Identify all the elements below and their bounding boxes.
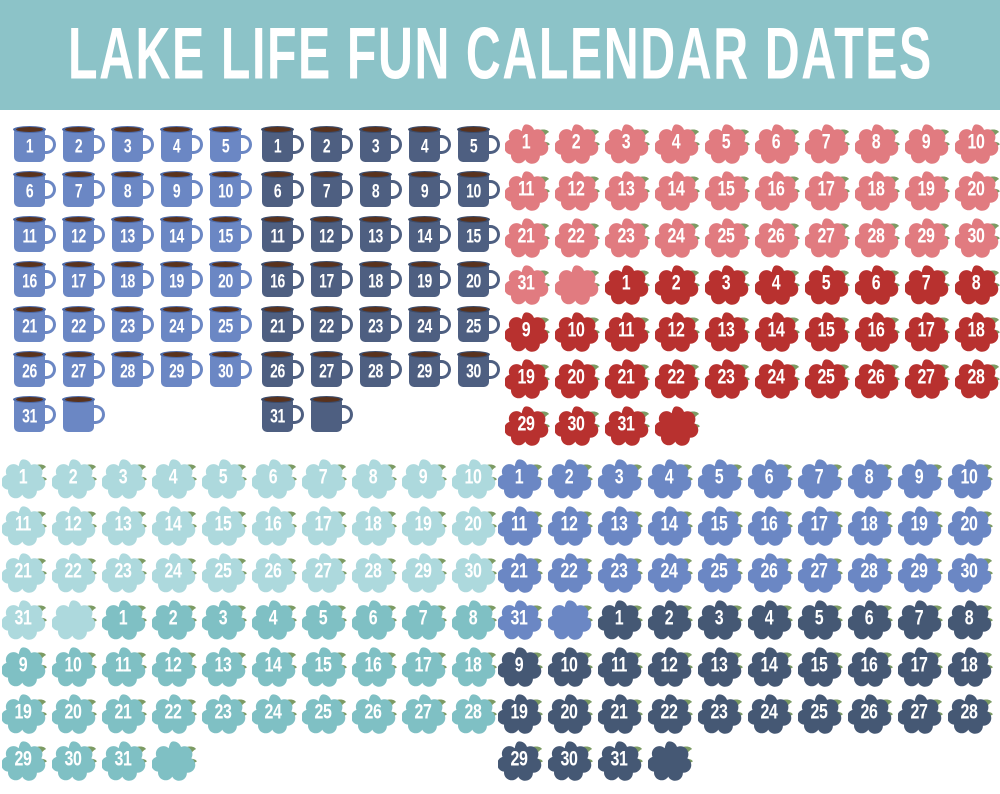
flower-sticker-8[interactable]: 8 (946, 596, 996, 643)
flower-sticker-6[interactable]: 6 (250, 455, 300, 502)
flower-date-number: 6 (355, 605, 390, 634)
mug-sticker-15[interactable]: 15 (454, 212, 503, 257)
flower-sticker-18[interactable]: 18 (953, 308, 1000, 355)
flower-sticker-19[interactable]: 19 (503, 355, 553, 402)
flower-sticker-16[interactable]: 16 (746, 502, 796, 549)
flower-sticker-20[interactable]: 20 (450, 502, 500, 549)
mug-sticker-19[interactable]: 19 (157, 257, 206, 302)
mug-sticker-18[interactable]: 18 (108, 257, 157, 302)
flower-sticker-30[interactable]: 30 (450, 549, 500, 596)
mug-sticker-12[interactable]: 12 (59, 212, 108, 257)
mug-sticker-14[interactable]: 14 (157, 212, 206, 257)
flower-sticker-19[interactable]: 19 (400, 502, 450, 549)
mug-date-number: 10 (461, 179, 486, 206)
mug-sticker-8[interactable]: 8 (108, 167, 157, 212)
flower-sticker-7[interactable]: 7 (300, 455, 350, 502)
flower-date-number: 3 (701, 605, 736, 634)
flower-sticker-22[interactable]: 22 (150, 690, 200, 737)
flower-sticker-3[interactable]: 3 (603, 120, 653, 167)
coffee-icon (163, 307, 190, 312)
flower-sticker-2[interactable]: 2 (553, 120, 603, 167)
mug-date-number: 23 (115, 314, 140, 341)
flower-sticker-6[interactable]: 6 (846, 596, 896, 643)
flower-sticker-26[interactable]: 26 (350, 690, 400, 737)
flower-sticker-28[interactable]: 28 (846, 549, 896, 596)
flower-sticker-15[interactable]: 15 (696, 502, 746, 549)
flower-sticker-24[interactable]: 24 (653, 214, 703, 261)
mug-sticker-3[interactable]: 3 (108, 122, 157, 167)
flower-sticker-8[interactable]: 8 (853, 120, 903, 167)
mug-date-number: 7 (66, 179, 91, 206)
flower-sticker-21[interactable]: 21 (100, 690, 150, 737)
flower-sticker-6[interactable]: 6 (753, 120, 803, 167)
flower-date-number: 25 (808, 364, 843, 393)
flower-sticker-3[interactable]: 3 (596, 455, 646, 502)
flower-sticker-27[interactable]: 27 (896, 690, 946, 737)
flower-date-number: 8 (858, 129, 893, 158)
flower-sticker-27[interactable]: 27 (803, 214, 853, 261)
mug-sticker-17[interactable]: 17 (307, 257, 356, 302)
flower-sticker-22[interactable]: 22 (646, 690, 696, 737)
flower-sticker-27[interactable]: 27 (796, 549, 846, 596)
flower-sticker-18[interactable]: 18 (946, 643, 996, 690)
flower-date-number: 10 (958, 129, 993, 158)
flower-sticker-17[interactable]: 17 (803, 167, 853, 214)
mug-sticker-11[interactable]: 11 (10, 212, 59, 257)
flower-sticker-7[interactable]: 7 (400, 596, 450, 643)
flower-sticker-25[interactable]: 25 (696, 549, 746, 596)
mug-sticker-31[interactable]: 31 (258, 392, 307, 437)
mug-sticker-7[interactable]: 7 (59, 167, 108, 212)
flower-sticker-7[interactable]: 7 (896, 596, 946, 643)
flower-sticker-13[interactable]: 13 (603, 167, 653, 214)
flower-sticker-18[interactable]: 18 (450, 643, 500, 690)
flower-sticker-5[interactable]: 5 (696, 455, 746, 502)
flower-sticker-8[interactable]: 8 (450, 596, 500, 643)
mug-sticker-28[interactable]: 28 (356, 347, 405, 392)
flower-date-number: 18 (455, 652, 490, 681)
mug-sticker-30[interactable]: 30 (454, 347, 503, 392)
mug-sticker-10[interactable]: 10 (206, 167, 255, 212)
flower-sticker-24[interactable]: 24 (746, 690, 796, 737)
flower-sticker-6[interactable]: 6 (746, 455, 796, 502)
flower-sticker-13[interactable]: 13 (596, 502, 646, 549)
flower-date-number: 12 (551, 511, 586, 540)
mug-sticker-blank[interactable] (59, 392, 108, 437)
flower-sticker-4[interactable]: 4 (646, 455, 696, 502)
flower-sticker-18[interactable]: 18 (853, 167, 903, 214)
flower-sticker-17[interactable]: 17 (300, 502, 350, 549)
mug-date-number: 22 (314, 314, 339, 341)
flower-sticker-21[interactable]: 21 (503, 214, 553, 261)
flower-sticker-4[interactable]: 4 (653, 120, 703, 167)
mug-date-number: 17 (314, 269, 339, 296)
flower-sticker-13[interactable]: 13 (696, 643, 746, 690)
flower-sticker-22[interactable]: 22 (653, 355, 703, 402)
flower-sticker-7[interactable]: 7 (803, 120, 853, 167)
flower-sticker-13[interactable]: 13 (200, 643, 250, 690)
mug-sticker-14[interactable]: 14 (405, 212, 454, 257)
flower-sticker-21[interactable]: 21 (596, 690, 646, 737)
flower-sticker-28[interactable]: 28 (853, 214, 903, 261)
mug-sticker-13[interactable]: 13 (108, 212, 157, 257)
coffee-icon (460, 172, 487, 177)
flower-date-number: 1 (5, 464, 40, 493)
mug-sticker-29[interactable]: 29 (157, 347, 206, 392)
flower-sticker-2[interactable]: 2 (653, 261, 703, 308)
flower-sticker-blank[interactable] (646, 737, 696, 784)
flower-sticker-10[interactable]: 10 (953, 120, 1000, 167)
flower-sticker-28[interactable]: 28 (350, 549, 400, 596)
flower-sticker-23[interactable]: 23 (703, 355, 753, 402)
mug-sticker-9[interactable]: 9 (157, 167, 206, 212)
flower-sticker-18[interactable]: 18 (350, 502, 400, 549)
flower-sticker-21[interactable]: 21 (0, 549, 50, 596)
mug-sticker-13[interactable]: 13 (356, 212, 405, 257)
flower-sticker-14[interactable]: 14 (250, 643, 300, 690)
flower-sticker-24[interactable]: 24 (753, 355, 803, 402)
flower-sticker-18[interactable]: 18 (846, 502, 896, 549)
mug-sticker-26[interactable]: 26 (10, 347, 59, 392)
flower-sticker-31[interactable]: 31 (496, 596, 546, 643)
flower-sticker-10[interactable]: 10 (546, 643, 596, 690)
flower-sticker-5[interactable]: 5 (300, 596, 350, 643)
mug-sticker-28[interactable]: 28 (108, 347, 157, 392)
flower-sticker-11[interactable]: 11 (0, 502, 50, 549)
flower-sticker-14[interactable]: 14 (150, 502, 200, 549)
flower-sticker-22[interactable]: 22 (50, 549, 100, 596)
flower-sticker-11[interactable]: 11 (603, 308, 653, 355)
mug-sticker-25[interactable]: 25 (206, 302, 255, 347)
flower-sticker-26[interactable]: 26 (846, 690, 896, 737)
mug-date-number: 12 (314, 224, 339, 251)
flower-sticker-10[interactable]: 10 (553, 308, 603, 355)
flower-sticker-7[interactable]: 7 (796, 455, 846, 502)
coffee-icon (411, 352, 438, 357)
flower-sticker-11[interactable]: 11 (596, 643, 646, 690)
flower-sticker-23[interactable]: 23 (596, 549, 646, 596)
mug-sticker-2[interactable]: 2 (307, 122, 356, 167)
flower-sticker-16[interactable]: 16 (846, 643, 896, 690)
flower-sticker-8[interactable]: 8 (846, 455, 896, 502)
flower-sticker-9[interactable]: 9 (503, 308, 553, 355)
flower-date-number: 17 (405, 652, 440, 681)
mug-sticker-5[interactable]: 5 (206, 122, 255, 167)
flower-sticker-12[interactable]: 12 (646, 643, 696, 690)
mug-sticker-7[interactable]: 7 (307, 167, 356, 212)
flower-sticker-30[interactable]: 30 (953, 214, 1000, 261)
coffee-icon (313, 262, 340, 267)
flower-sticker-16[interactable]: 16 (753, 167, 803, 214)
mug-sticker-11[interactable]: 11 (258, 212, 307, 257)
flower-date-number: 24 (651, 558, 686, 587)
flower-date-number: 21 (105, 699, 140, 728)
flower-sticker-29[interactable]: 29 (896, 549, 946, 596)
mug-sticker-30[interactable]: 30 (206, 347, 255, 392)
flower-sticker-12[interactable]: 12 (653, 308, 703, 355)
mug-sticker-17[interactable]: 17 (59, 257, 108, 302)
flower-sticker-1[interactable]: 1 (100, 596, 150, 643)
mug-sticker-26[interactable]: 26 (258, 347, 307, 392)
flower-sticker-20[interactable]: 20 (946, 502, 996, 549)
flower-sticker-23[interactable]: 23 (603, 214, 653, 261)
flower-sticker-28[interactable]: 28 (946, 690, 996, 737)
flower-sticker-26[interactable]: 26 (250, 549, 300, 596)
panel-light-blue-mugs: 1234567891011121314151617181920212223242… (10, 122, 255, 437)
flower-sticker-11[interactable]: 11 (100, 643, 150, 690)
flower-sticker-15[interactable]: 15 (703, 167, 753, 214)
flower-sticker-30[interactable]: 30 (50, 737, 100, 784)
flower-sticker-20[interactable]: 20 (546, 690, 596, 737)
flower-date-number: 27 (808, 223, 843, 252)
flower-sticker-20[interactable]: 20 (50, 690, 100, 737)
mug-sticker-1[interactable]: 1 (10, 122, 59, 167)
flower-sticker-16[interactable]: 16 (250, 502, 300, 549)
mug-sticker-6[interactable]: 6 (10, 167, 59, 212)
flower-sticker-11[interactable]: 11 (496, 502, 546, 549)
flower-sticker-31[interactable]: 31 (603, 402, 653, 449)
mug-sticker-8[interactable]: 8 (356, 167, 405, 212)
flower-sticker-4[interactable]: 4 (753, 261, 803, 308)
flower-date-number: 26 (758, 223, 793, 252)
flower-sticker-14[interactable]: 14 (653, 167, 703, 214)
flower-sticker-19[interactable]: 19 (903, 167, 953, 214)
flower-sticker-10[interactable]: 10 (946, 455, 996, 502)
mug-sticker-19[interactable]: 19 (405, 257, 454, 302)
flower-sticker-4[interactable]: 4 (746, 596, 796, 643)
flower-sticker-5[interactable]: 5 (803, 261, 853, 308)
flower-sticker-30[interactable]: 30 (546, 737, 596, 784)
flower-date-number: 13 (205, 652, 240, 681)
flower-sticker-9[interactable]: 9 (896, 455, 946, 502)
flower-sticker-9[interactable]: 9 (903, 120, 953, 167)
flower-sticker-25[interactable]: 25 (703, 214, 753, 261)
flower-date-number: 17 (808, 176, 843, 205)
mug-sticker-20[interactable]: 20 (454, 257, 503, 302)
flower-sticker-5[interactable]: 5 (703, 120, 753, 167)
mug-sticker-1[interactable]: 1 (258, 122, 307, 167)
flower-sticker-27[interactable]: 27 (903, 355, 953, 402)
flower-sticker-4[interactable]: 4 (150, 455, 200, 502)
mug-sticker-blank[interactable] (307, 392, 356, 437)
flower-sticker-28[interactable]: 28 (450, 690, 500, 737)
flower-date-number: 21 (5, 558, 40, 587)
flower-sticker-14[interactable]: 14 (746, 643, 796, 690)
flower-sticker-10[interactable]: 10 (450, 455, 500, 502)
flower-sticker-blank[interactable] (546, 596, 596, 643)
flower-sticker-22[interactable]: 22 (553, 214, 603, 261)
flower-sticker-6[interactable]: 6 (853, 261, 903, 308)
mug-date-number: 28 (115, 359, 140, 386)
flower-sticker-20[interactable]: 20 (953, 167, 1000, 214)
flower-date-number: 4 (658, 129, 693, 158)
flower-sticker-11[interactable]: 11 (503, 167, 553, 214)
flower-sticker-19[interactable]: 19 (896, 502, 946, 549)
flower-sticker-28[interactable]: 28 (953, 355, 1000, 402)
flower-sticker-23[interactable]: 23 (100, 549, 150, 596)
flower-sticker-13[interactable]: 13 (100, 502, 150, 549)
flower-sticker-24[interactable]: 24 (646, 549, 696, 596)
flower-sticker-5[interactable]: 5 (796, 596, 846, 643)
flower-sticker-16[interactable]: 16 (853, 308, 903, 355)
mug-sticker-18[interactable]: 18 (356, 257, 405, 302)
flower-sticker-1[interactable]: 1 (496, 455, 546, 502)
mug-sticker-23[interactable]: 23 (356, 302, 405, 347)
flower-sticker-15[interactable]: 15 (300, 643, 350, 690)
flower-sticker-14[interactable]: 14 (753, 308, 803, 355)
flower-sticker-1[interactable]: 1 (503, 120, 553, 167)
flower-sticker-7[interactable]: 7 (903, 261, 953, 308)
mug-sticker-24[interactable]: 24 (157, 302, 206, 347)
flower-sticker-23[interactable]: 23 (200, 690, 250, 737)
flower-sticker-31[interactable]: 31 (596, 737, 646, 784)
flower-sticker-26[interactable]: 26 (746, 549, 796, 596)
mug-sticker-16[interactable]: 16 (258, 257, 307, 302)
flower-date-number: 3 (105, 464, 140, 493)
flower-sticker-9[interactable]: 9 (496, 643, 546, 690)
flower-sticker-8[interactable]: 8 (953, 261, 1000, 308)
flower-sticker-21[interactable]: 21 (603, 355, 653, 402)
flower-sticker-25[interactable]: 25 (796, 690, 846, 737)
flower-sticker-3[interactable]: 3 (100, 455, 150, 502)
mug-grid-dark: 1234567891011121314151617181920212223242… (258, 122, 503, 437)
coffee-icon (114, 352, 141, 357)
flower-sticker-4[interactable]: 4 (250, 596, 300, 643)
flower-sticker-1[interactable]: 1 (0, 455, 50, 502)
flower-sticker-29[interactable]: 29 (503, 402, 553, 449)
flower-sticker-17[interactable]: 17 (400, 643, 450, 690)
flower-sticker-15[interactable]: 15 (796, 643, 846, 690)
flower-sticker-blank[interactable] (50, 596, 100, 643)
flower-date-number: 12 (155, 652, 190, 681)
flower-sticker-21[interactable]: 21 (496, 549, 546, 596)
flower-sticker-26[interactable]: 26 (853, 355, 903, 402)
flower-sticker-16[interactable]: 16 (350, 643, 400, 690)
flower-sticker-30[interactable]: 30 (946, 549, 996, 596)
mug-sticker-20[interactable]: 20 (206, 257, 255, 302)
flower-sticker-10[interactable]: 10 (50, 643, 100, 690)
flower-sticker-24[interactable]: 24 (150, 549, 200, 596)
flower-sticker-12[interactable]: 12 (553, 167, 603, 214)
flower-sticker-22[interactable]: 22 (546, 549, 596, 596)
mug-sticker-12[interactable]: 12 (307, 212, 356, 257)
flower-sticker-29[interactable]: 29 (400, 549, 450, 596)
mug-sticker-3[interactable]: 3 (356, 122, 405, 167)
mug-date-number: 12 (66, 224, 91, 251)
flower-date-number: 7 (305, 464, 340, 493)
flower-sticker-1[interactable]: 1 (596, 596, 646, 643)
mug-sticker-22[interactable]: 22 (307, 302, 356, 347)
flower-sticker-25[interactable]: 25 (300, 690, 350, 737)
flower-sticker-8[interactable]: 8 (350, 455, 400, 502)
flower-sticker-3[interactable]: 3 (696, 596, 746, 643)
flower-sticker-2[interactable]: 2 (646, 596, 696, 643)
mug-sticker-5[interactable]: 5 (454, 122, 503, 167)
flower-sticker-2[interactable]: 2 (50, 455, 100, 502)
flower-sticker-31[interactable]: 31 (503, 261, 553, 308)
flower-sticker-30[interactable]: 30 (553, 402, 603, 449)
flower-sticker-14[interactable]: 14 (646, 502, 696, 549)
flower-sticker-blank[interactable] (150, 737, 200, 784)
flower-sticker-blank[interactable] (653, 402, 703, 449)
mug-sticker-25[interactable]: 25 (454, 302, 503, 347)
flower-sticker-12[interactable]: 12 (546, 502, 596, 549)
flower-sticker-19[interactable]: 19 (496, 690, 546, 737)
flower-sticker-15[interactable]: 15 (803, 308, 853, 355)
mug-sticker-4[interactable]: 4 (405, 122, 454, 167)
flower-sticker-2[interactable]: 2 (150, 596, 200, 643)
mug-sticker-4[interactable]: 4 (157, 122, 206, 167)
flower-date-number: 27 (405, 699, 440, 728)
flower-sticker-9[interactable]: 9 (0, 643, 50, 690)
flower-sticker-15[interactable]: 15 (200, 502, 250, 549)
flower-date-number: 15 (205, 511, 240, 540)
flower-sticker-27[interactable]: 27 (300, 549, 350, 596)
flower-sticker-31[interactable]: 31 (100, 737, 150, 784)
flower-sticker-1[interactable]: 1 (603, 261, 653, 308)
flower-sticker-12[interactable]: 12 (150, 643, 200, 690)
flower-sticker-31[interactable]: 31 (0, 596, 50, 643)
flower-sticker-13[interactable]: 13 (703, 308, 753, 355)
mug-sticker-2[interactable]: 2 (59, 122, 108, 167)
flower-sticker-9[interactable]: 9 (400, 455, 450, 502)
flower-shape-icon (555, 263, 601, 306)
flower-sticker-25[interactable]: 25 (200, 549, 250, 596)
mug-sticker-6[interactable]: 6 (258, 167, 307, 212)
flower-sticker-29[interactable]: 29 (903, 214, 953, 261)
mug-sticker-31[interactable]: 31 (10, 392, 59, 437)
flower-sticker-3[interactable]: 3 (200, 596, 250, 643)
flower-date-number: 17 (801, 511, 836, 540)
flower-sticker-19[interactable]: 19 (0, 690, 50, 737)
mug-sticker-9[interactable]: 9 (405, 167, 454, 212)
mug-sticker-15[interactable]: 15 (206, 212, 255, 257)
mug-sticker-29[interactable]: 29 (405, 347, 454, 392)
coffee-icon (163, 352, 190, 357)
flower-sticker-5[interactable]: 5 (200, 455, 250, 502)
flower-sticker-12[interactable]: 12 (50, 502, 100, 549)
mug-date-number: 14 (412, 224, 437, 251)
flower-sticker-29[interactable]: 29 (496, 737, 546, 784)
mug-sticker-23[interactable]: 23 (108, 302, 157, 347)
mug-sticker-27[interactable]: 27 (307, 347, 356, 392)
flower-sticker-26[interactable]: 26 (753, 214, 803, 261)
flower-sticker-17[interactable]: 17 (896, 643, 946, 690)
flower-date-number: 12 (558, 176, 593, 205)
flower-sticker-27[interactable]: 27 (400, 690, 450, 737)
mug-date-number: 24 (164, 314, 189, 341)
flower-sticker-24[interactable]: 24 (250, 690, 300, 737)
mug-sticker-24[interactable]: 24 (405, 302, 454, 347)
mug-sticker-22[interactable]: 22 (59, 302, 108, 347)
mug-sticker-21[interactable]: 21 (10, 302, 59, 347)
flower-sticker-29[interactable]: 29 (0, 737, 50, 784)
flower-sticker-3[interactable]: 3 (703, 261, 753, 308)
flower-sticker-blank[interactable] (553, 261, 603, 308)
mug-sticker-27[interactable]: 27 (59, 347, 108, 392)
flower-sticker-2[interactable]: 2 (546, 455, 596, 502)
flower-sticker-17[interactable]: 17 (796, 502, 846, 549)
flower-sticker-25[interactable]: 25 (803, 355, 853, 402)
mug-sticker-21[interactable]: 21 (258, 302, 307, 347)
flower-date-number: 2 (558, 129, 593, 158)
flower-sticker-6[interactable]: 6 (350, 596, 400, 643)
flower-sticker-23[interactable]: 23 (696, 690, 746, 737)
mug-sticker-10[interactable]: 10 (454, 167, 503, 212)
flower-sticker-20[interactable]: 20 (553, 355, 603, 402)
mug-sticker-16[interactable]: 16 (10, 257, 59, 302)
flower-sticker-17[interactable]: 17 (903, 308, 953, 355)
